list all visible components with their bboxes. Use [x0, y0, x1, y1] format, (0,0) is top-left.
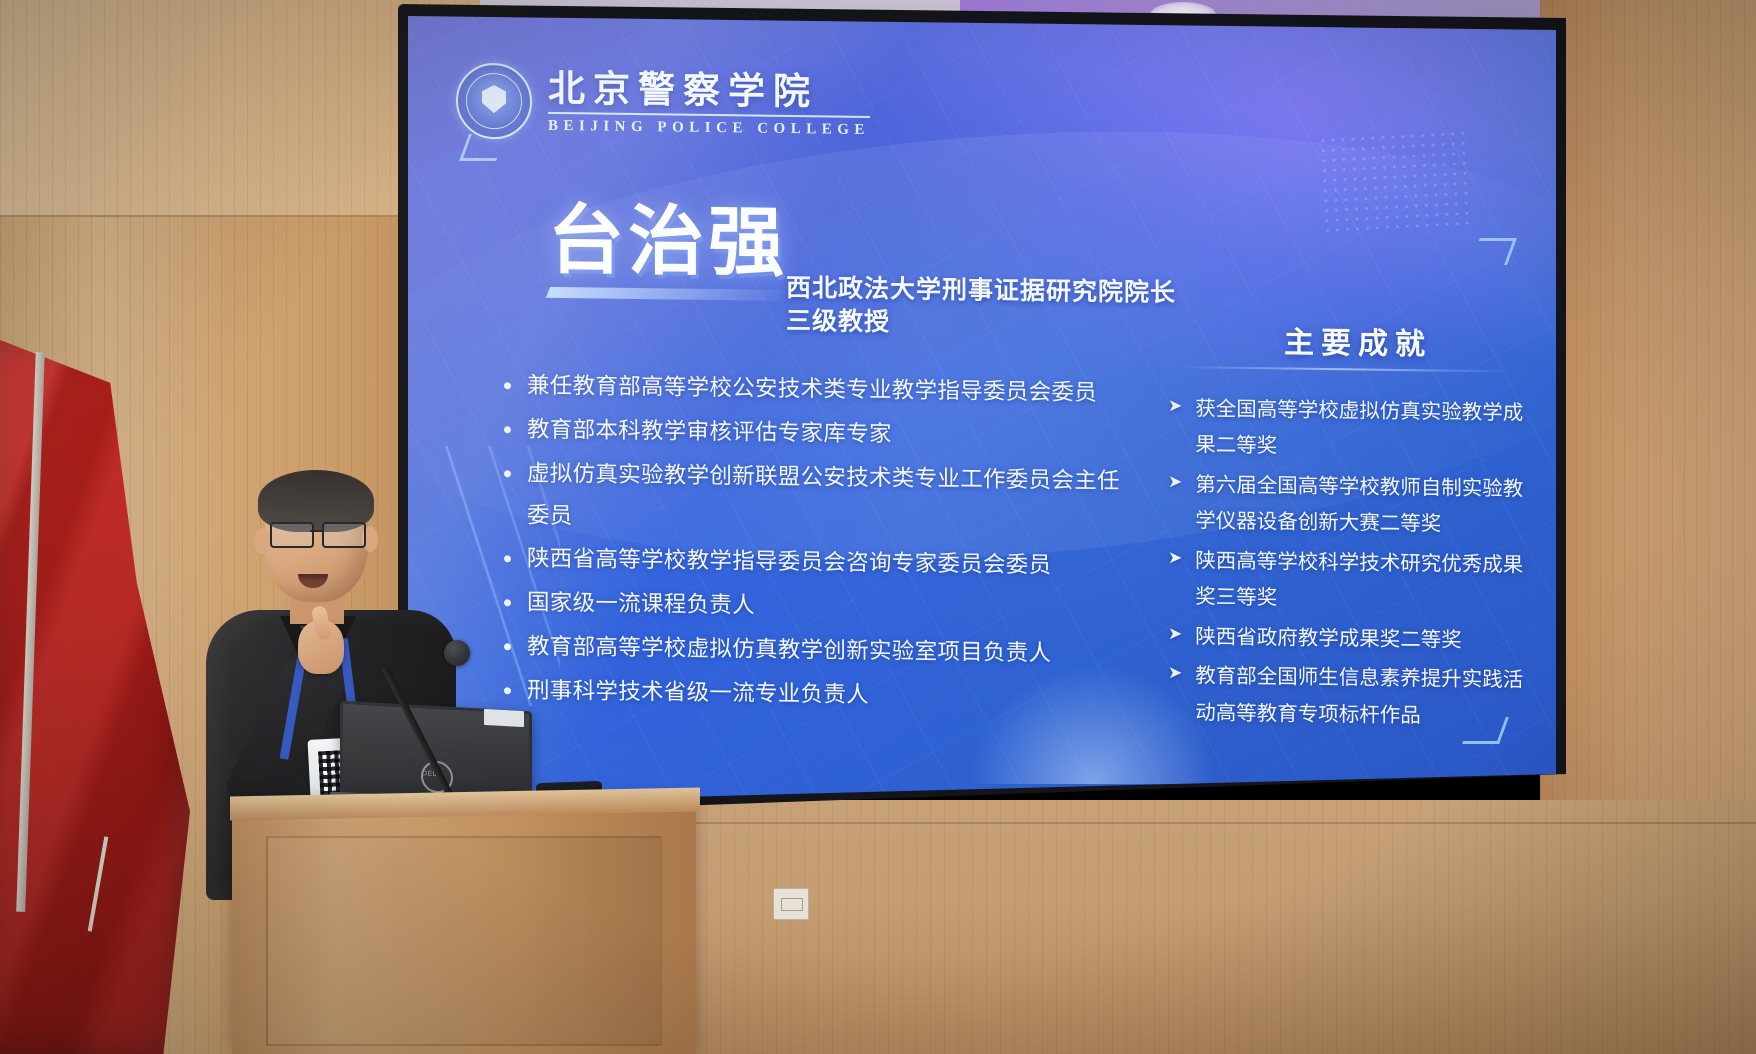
achievement-item: ➤ 教育部全国师生信息素养提升实践活动高等教育专项标杆作品 [1168, 657, 1540, 735]
achievement-text: 陕西高等学校科学技术研究优秀成果奖三等奖 [1195, 542, 1540, 619]
arrow-right-icon: ➤ [1168, 542, 1182, 575]
speaker-name: 台治强 [548, 202, 788, 281]
bullet-dot-icon [504, 687, 511, 694]
achievements-divider [1178, 366, 1508, 372]
glasses-icon [268, 522, 366, 544]
institution-name-en: BEIJING POLICE COLLEGE [548, 112, 870, 139]
achievement-item: ➤ 陕西高等学校科学技术研究优秀成果奖三等奖 [1168, 542, 1540, 620]
presentation-photo-scene: 北京警察学院 BEIJING POLICE COLLEGE 台治强 西北政法大学… [0, 0, 1756, 1054]
microphone-head-icon [444, 640, 470, 666]
credential-text: 刑事科学技术省级一流专业负责人 [527, 670, 1128, 720]
credential-text: 国家级一流课程负责人 [527, 583, 1128, 633]
credential-text: 兼任教育部高等学校公安技术类专业教学指导委员会委员 [527, 366, 1128, 416]
credential-text: 教育部本科教学审核评估专家库专家 [527, 409, 1128, 459]
glasses-bridge [310, 530, 324, 532]
bullet-dot-icon [504, 470, 511, 477]
arrow-right-icon: ➤ [1168, 618, 1182, 651]
name-underline-accent [546, 287, 782, 301]
police-badge-emblem-icon [456, 63, 532, 140]
credential-text: 虚拟仿真实验教学创新联盟公安技术类专业工作委员会主任委员 [527, 453, 1128, 545]
achievement-text: 陕西省政府教学成果奖二等奖 [1195, 618, 1540, 659]
credential-text: 教育部高等学校虚拟仿真教学创新实验室项目负责人 [527, 627, 1128, 677]
achievement-text: 第六届全国高等学校教师自制实验教学仪器设备创新大赛二等奖 [1195, 466, 1540, 543]
credential-item: 教育部高等学校虚拟仿真教学创新实验室项目负责人 [504, 626, 1128, 676]
achievement-item: ➤ 获全国高等学校虚拟仿真实验教学成果二等奖 [1168, 390, 1540, 468]
wall-power-outlet [773, 888, 809, 920]
speaker-name-block: 台治强 [548, 202, 788, 301]
achievement-text: 教育部全国师生信息素养提升实践活动高等教育专项标杆作品 [1195, 658, 1540, 735]
achievement-item: ➤ 第六届全国高等学校教师自制实验教学仪器设备创新大赛二等奖 [1168, 466, 1540, 544]
arrow-right-icon: ➤ [1168, 390, 1182, 423]
speaker-title-line-1: 西北政法大学刑事证据研究院院长 [786, 271, 1176, 309]
achievements-heading: 主要成就 [1168, 316, 1540, 365]
credential-item: 虚拟仿真实验教学创新联盟公安技术类专业工作委员会主任委员 [504, 453, 1128, 545]
credential-item: 国家级一流课程负责人 [504, 582, 1128, 632]
credential-item: 陕西省高等学校教学指导委员会咨询专家委员会委员 [504, 539, 1128, 589]
institution-logo: 北京警察学院 BEIJING POLICE COLLEGE [456, 63, 870, 144]
credential-item: 兼任教育部高等学校公安技术类专业教学指导委员会委员 [504, 365, 1128, 415]
credentials-list: 兼任教育部高等学校公安技术类专业教学指导委员会委员 教育部本科教学审核评估专家库… [504, 365, 1128, 722]
bullet-dot-icon [504, 556, 511, 563]
institution-name-cn: 北京警察学院 [548, 68, 870, 111]
laptop-sticker [484, 709, 524, 727]
achievements-panel: 主要成就 ➤ 获全国高等学校虚拟仿真实验教学成果二等奖 ➤ 第六届全国高等学校教… [1168, 316, 1540, 738]
credential-item: 刑事科学技术省级一流专业负责人 [504, 670, 1128, 720]
achievement-text: 获全国高等学校虚拟仿真实验教学成果二等奖 [1195, 390, 1540, 467]
bullet-dot-icon [504, 599, 511, 606]
achievement-item: ➤ 陕西省政府教学成果奖二等奖 [1168, 618, 1540, 659]
speaker-title: 西北政法大学刑事证据研究院院长 三级教授 [786, 271, 1176, 342]
glasses-lens [270, 522, 314, 548]
slide-content: 北京警察学院 BEIJING POLICE COLLEGE 台治强 西北政法大学… [408, 16, 1556, 804]
arrow-right-icon: ➤ [1168, 466, 1182, 499]
credential-item: 教育部本科教学审核评估专家库专家 [504, 409, 1128, 459]
bullet-dot-icon [504, 426, 511, 433]
glasses-lens [322, 522, 366, 548]
credential-text: 陕西省高等学校教学指导委员会咨询专家委员会委员 [527, 539, 1128, 589]
wall-display-screen[interactable]: 北京警察学院 BEIJING POLICE COLLEGE 台治强 西北政法大学… [408, 16, 1556, 804]
bullet-dot-icon [504, 643, 511, 650]
bullet-dot-icon [504, 382, 511, 389]
speaker-title-line-2: 三级教授 [786, 304, 1176, 342]
lectern-front-panel [266, 836, 662, 1046]
arrow-right-icon: ➤ [1168, 657, 1182, 690]
